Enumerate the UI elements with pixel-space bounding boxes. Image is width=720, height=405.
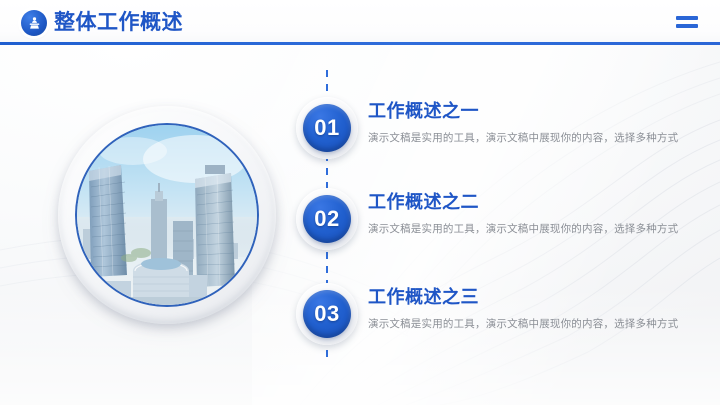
list-item-text: 工作概述之三 演示文稿是实用的工具，演示文稿中展现你的内容，选择多种方式 [368, 285, 693, 332]
step-number-badge: 02 [296, 188, 358, 250]
step-number-label: 03 [314, 303, 339, 325]
step-number-badge: 01 [296, 97, 358, 159]
step-number-label: 02 [314, 208, 339, 230]
list-item-text: 工作概述之一 演示文稿是实用的工具，演示文稿中展现你的内容，选择多种方式 [368, 99, 693, 146]
step-number-badge: 03 [296, 283, 358, 345]
menu-bar-1 [676, 16, 698, 20]
step-badge-disc: 02 [303, 195, 351, 243]
list-item-description: 演示文稿是实用的工具，演示文稿中展现你的内容，选择多种方式 [368, 222, 693, 237]
list-item-title: 工作概述之三 [368, 285, 693, 310]
list-item[interactable]: 01 工作概述之一 演示文稿是实用的工具，演示文稿中展现你的内容，选择多种方式 [296, 97, 696, 159]
step-badge-disc: 01 [303, 104, 351, 152]
list-item-description: 演示文稿是实用的工具，演示文稿中展现你的内容，选择多种方式 [368, 131, 693, 146]
slide-canvas: 整体工作概述 [0, 0, 720, 405]
menu-bar-2 [676, 24, 698, 28]
list-item[interactable]: 02 工作概述之二 演示文稿是实用的工具，演示文稿中展现你的内容，选择多种方式 [296, 188, 696, 250]
presenter-podium-icon [21, 10, 47, 36]
hamburger-menu-icon[interactable] [676, 16, 698, 28]
page-title: 整体工作概述 [54, 9, 183, 37]
header-divider [0, 42, 720, 45]
list-item-text: 工作概述之二 演示文稿是实用的工具，演示文稿中展现你的内容，选择多种方式 [368, 190, 693, 237]
city-skyline-photo [58, 106, 276, 324]
photo-image-frame [77, 125, 257, 305]
list-item-description: 演示文稿是实用的工具，演示文稿中展现你的内容，选择多种方式 [368, 317, 693, 332]
step-number-label: 01 [314, 117, 339, 139]
list-item-title: 工作概述之二 [368, 190, 693, 215]
list-item[interactable]: 03 工作概述之三 演示文稿是实用的工具，演示文稿中展现你的内容，选择多种方式 [296, 283, 696, 345]
list-item-title: 工作概述之一 [368, 99, 693, 124]
step-badge-disc: 03 [303, 290, 351, 338]
header-bar: 整体工作概述 [0, 0, 720, 45]
